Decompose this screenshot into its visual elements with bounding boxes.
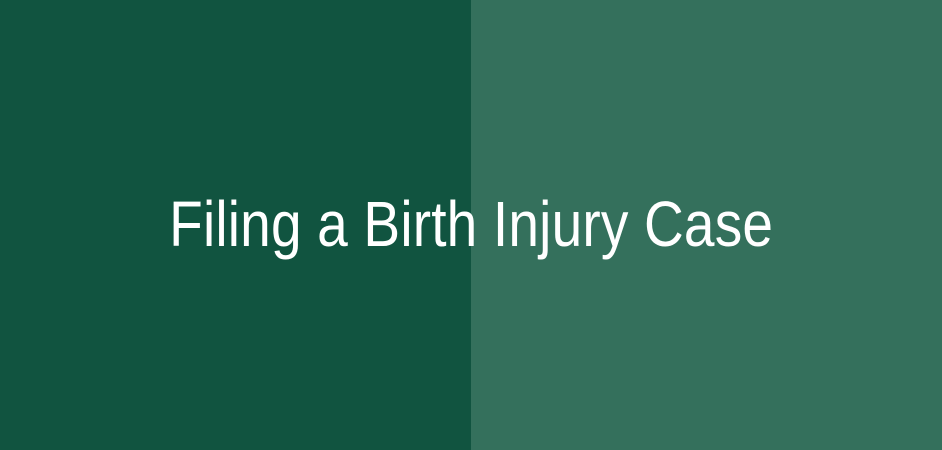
- birth-injury-banner: Filing a Birth Injury Case: [0, 0, 942, 450]
- banner-title: Filing a Birth Injury Case: [169, 191, 773, 258]
- banner-content: Filing a Birth Injury Case: [0, 0, 942, 450]
